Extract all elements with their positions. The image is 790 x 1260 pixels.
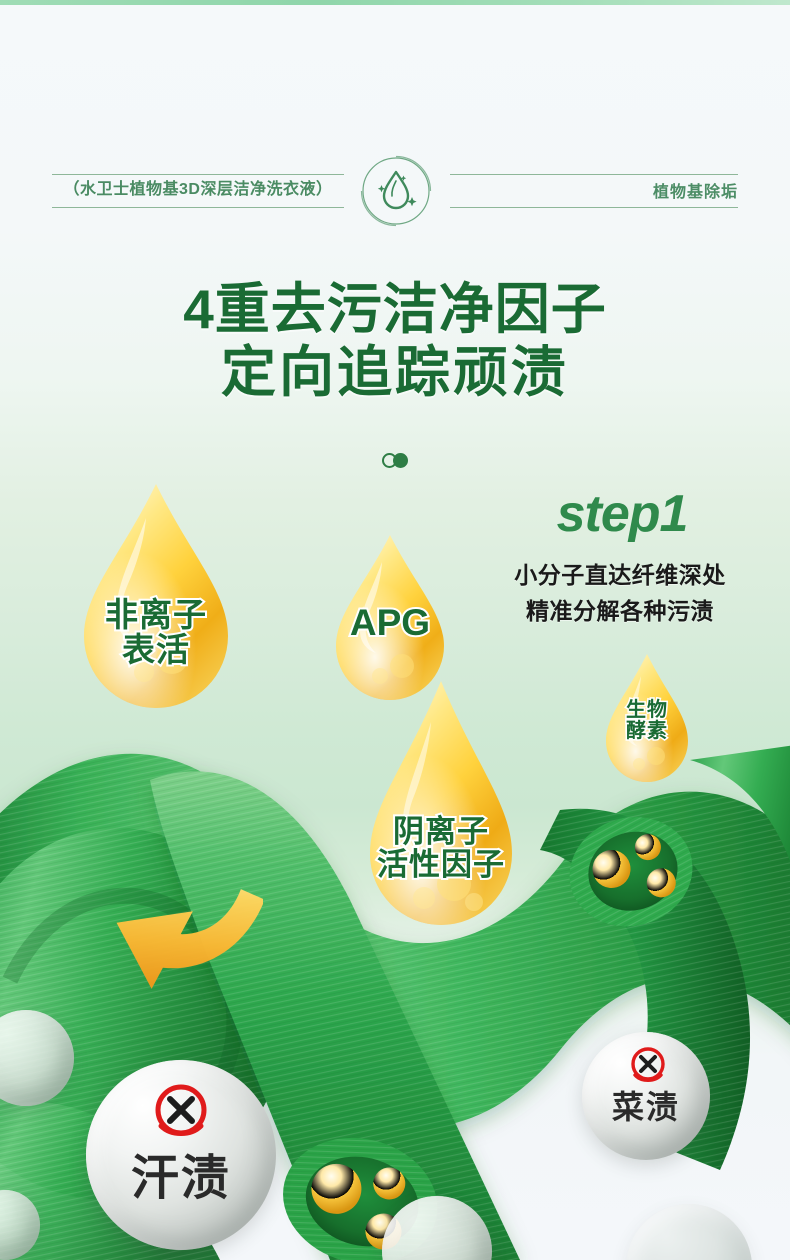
headline-line-2: 定向追踪顽渍 xyxy=(0,341,790,404)
stain-label-food: 菜渍 xyxy=(582,1082,710,1128)
no-entry-x-icon xyxy=(144,1082,218,1138)
step-label: step1 xyxy=(487,487,757,541)
header-rule-right-bottom xyxy=(450,207,738,208)
step-desc-line-1: 小分子直达纤维深处 xyxy=(480,556,760,590)
pagination-dots[interactable] xyxy=(0,452,790,470)
droplet-nonionic-label: 非离子 表活 xyxy=(72,598,240,667)
product-detail-page: （水卫士植物基3D深层洁净洗衣液） 植物基除垢 4重去污洁净因子 定向追踪顽渍 … xyxy=(0,0,790,1260)
header-rule-right-top xyxy=(450,174,738,175)
top-accent-bar xyxy=(0,0,790,5)
pagination-dot-2[interactable] xyxy=(393,453,408,468)
headline-line-1: 4重去污洁净因子 xyxy=(0,278,790,341)
droplet-anionic: 阴离子 活性因子 xyxy=(358,678,524,940)
droplet-apg: APG xyxy=(328,532,452,700)
curved-down-arrow-icon xyxy=(88,845,263,1010)
droplet-nonionic: 非离子 表活 xyxy=(72,480,240,710)
droplet-anionic-label: 阴离子 活性因子 xyxy=(358,816,524,881)
header-tagline: 植物基除垢 xyxy=(560,178,738,202)
droplet-enzyme-label: 生物 酵素 xyxy=(601,700,693,742)
product-name: （水卫士植物基3D深层洁净洗衣液） xyxy=(52,175,344,199)
page-title: 4重去污洁净因子 定向追踪顽渍 xyxy=(0,278,790,404)
step-desc-line-2: 精准分解各种污渍 xyxy=(480,592,760,626)
water-droplet-sparkle-icon xyxy=(357,152,435,230)
stain-label-sweat: 汗渍 xyxy=(86,1138,276,1208)
stain-bubble-food: 菜渍 xyxy=(582,1032,710,1160)
droplet-enzyme: 生物 酵素 xyxy=(601,652,693,784)
no-entry-x-icon xyxy=(624,1046,672,1084)
header-rule-left-bottom xyxy=(52,207,344,208)
stain-bubble-sweat: 汗渍 xyxy=(86,1060,276,1250)
droplet-apg-label: APG xyxy=(328,604,452,643)
